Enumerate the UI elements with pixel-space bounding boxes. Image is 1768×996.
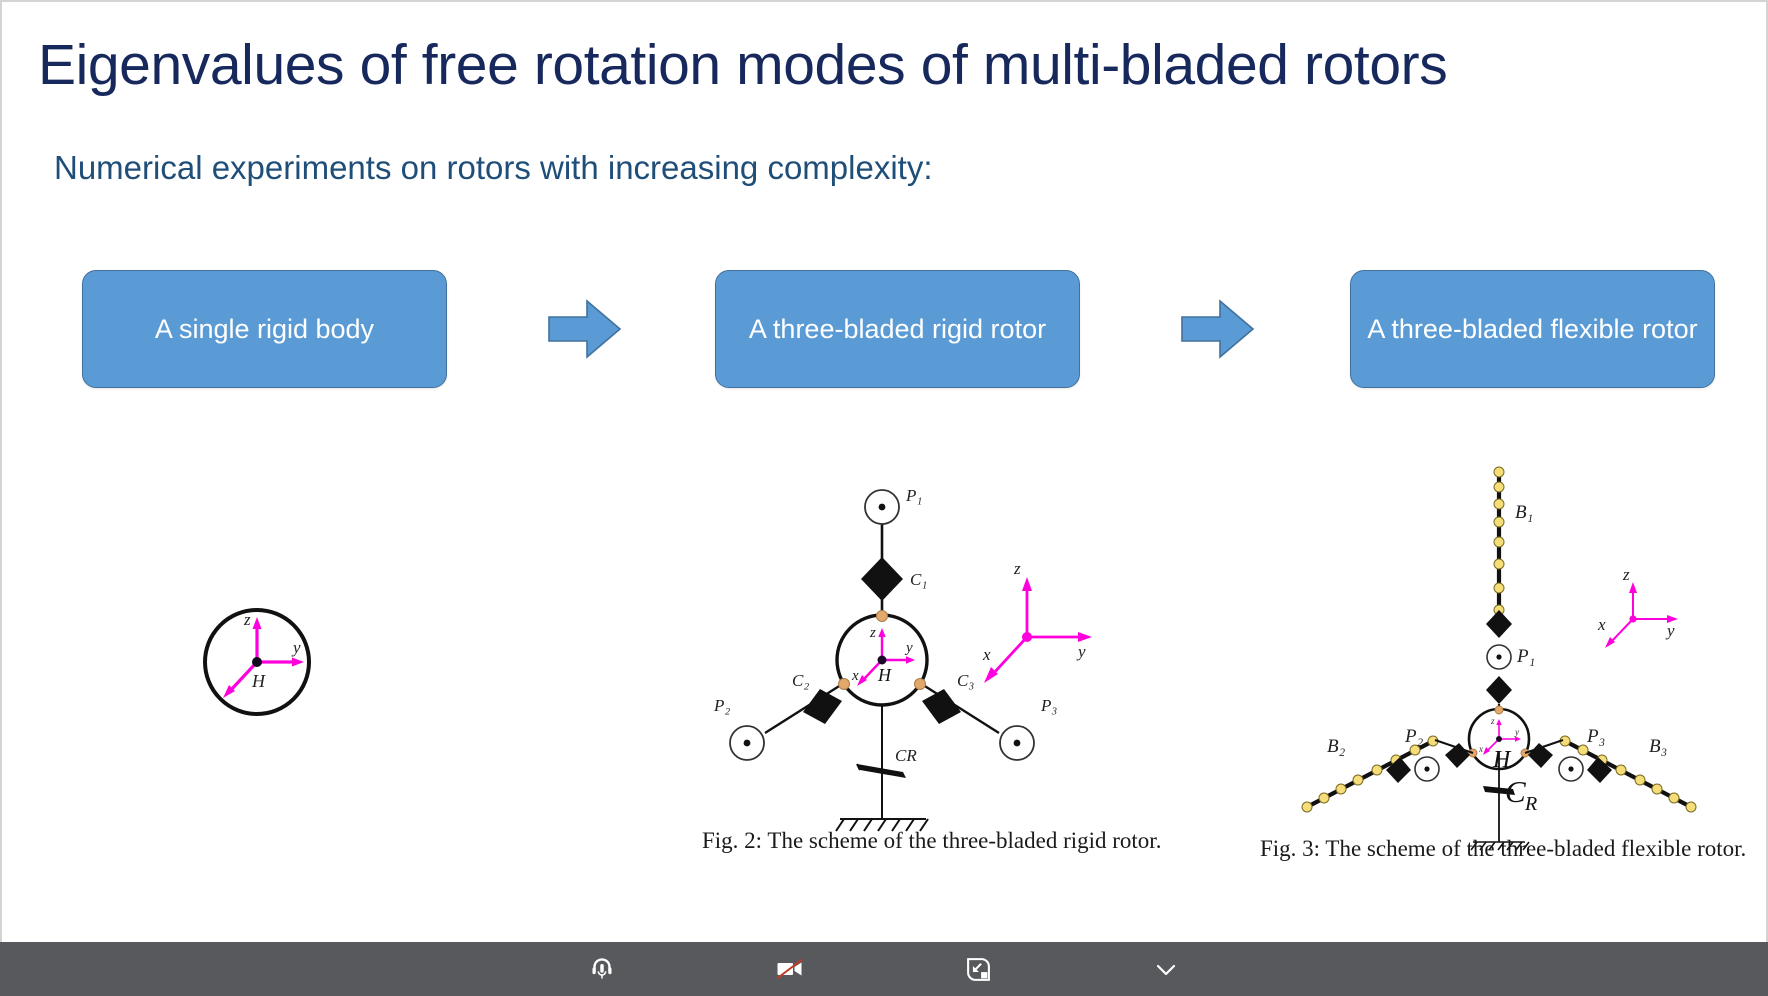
- mass-p3: [1000, 726, 1034, 760]
- fig2-global-axes: [992, 587, 1082, 675]
- fig3-b3-label: B₃: [1649, 736, 1667, 757]
- fig2-global-z-label: z: [1013, 559, 1021, 578]
- presentation-slide: Eigenvalues of free rotation modes of mu…: [0, 0, 1768, 942]
- fig3-global-z-label: z: [1622, 565, 1630, 584]
- fig2-p1-label: P₁: [905, 486, 922, 505]
- fig1-axis-z-label: z: [243, 610, 251, 629]
- present-screen-button[interactable]: [942, 942, 1014, 996]
- flow-box-single-rigid-body[interactable]: A single rigid body: [82, 270, 447, 388]
- chevron-down-icon: [1153, 956, 1179, 982]
- fig3-spring-top-inner: [1486, 676, 1512, 704]
- fig3-spring-left-outer: [1386, 757, 1411, 783]
- fig3-mass-p3: [1559, 757, 1583, 781]
- headset-icon: [589, 956, 615, 982]
- toolbar-gap-2: [826, 969, 942, 970]
- flow-box-three-bladed-rigid-rotor[interactable]: A three-bladed rigid rotor: [715, 270, 1080, 388]
- fig2-global-y-label: y: [1076, 642, 1086, 661]
- present-screen-icon: [965, 956, 992, 983]
- camera-off-icon: [775, 956, 805, 982]
- meeting-toolbar: [0, 942, 1768, 996]
- fig2-hub-label: H: [877, 665, 892, 685]
- joint-right: [915, 679, 926, 690]
- fig1-hub-label: H: [251, 671, 266, 691]
- flow-box-three-bladed-flexible-rotor[interactable]: A three-bladed flexible rotor: [1350, 270, 1715, 388]
- page-subtitle: Numerical experiments on rotors with inc…: [54, 150, 1454, 186]
- fig2-c3-label: C₃: [957, 671, 974, 690]
- fig1-axis-y-label: y: [291, 638, 301, 657]
- fig2-c2-label: C₂: [792, 671, 809, 690]
- page-title: Eigenvalues of free rotation modes of mu…: [38, 36, 1718, 96]
- fig2-global-x-label: x: [982, 645, 991, 664]
- fig3-spring-top-outer: [1486, 610, 1512, 638]
- fig3-hub-axis-y-label: y: [1514, 727, 1519, 737]
- fig2-hub-axis-x-label: x: [851, 668, 859, 684]
- fig2-c1-label: C₁: [910, 570, 927, 589]
- fig3-spring-right-outer: [1587, 757, 1612, 783]
- flow-arrow-1: [547, 297, 622, 362]
- joint-left: [839, 679, 850, 690]
- fig3-global-y-label: y: [1665, 621, 1675, 640]
- fig3-b1-label: B₁: [1515, 502, 1533, 523]
- three-bladed-flexible-rotor-diagram: B₁ B₂ B₃: [1267, 452, 1727, 872]
- fig3-global-axes: [1611, 589, 1671, 642]
- fig3-hub-axis-z-label: z: [1490, 716, 1495, 726]
- fig2-hub-axis-z-label: z: [869, 625, 876, 641]
- fig2-p3-label: P₃: [1040, 696, 1057, 715]
- joint-top: [877, 611, 888, 622]
- single-rigid-body-diagram: z y H: [192, 597, 322, 727]
- mass-p1: [865, 490, 899, 524]
- flow-arrow-2: [1180, 297, 1255, 362]
- fig2-hub-axis-y-label: y: [904, 640, 913, 656]
- flow-box-label: A single rigid body: [155, 312, 374, 347]
- fig3-hub-label: H: [1492, 747, 1512, 773]
- figure-2-caption: Fig. 2: The scheme of the three-bladed r…: [702, 828, 1161, 854]
- flow-box-label: A three-bladed flexible rotor: [1367, 312, 1697, 347]
- toolbar-gap-3: [1014, 969, 1130, 970]
- figure-3-caption: Fig. 3: The scheme of the three-bladed f…: [1260, 836, 1746, 862]
- fig3-cr-sub-label: R: [1524, 793, 1537, 815]
- spring-c2: [803, 689, 842, 724]
- fig3-p3-label: P₃: [1586, 726, 1605, 747]
- fig3-mass-p2: [1415, 757, 1439, 781]
- fig3-p2-label: P₂: [1404, 726, 1424, 747]
- spring-c1: [861, 557, 903, 601]
- three-bladed-rigid-rotor-diagram: z y x H P₁ P₂ P₃ C₁ C₂ C₃ CR: [692, 467, 1122, 867]
- fig3-spring-left-inner: [1445, 743, 1470, 768]
- fig2-cr-label: CR: [895, 746, 917, 765]
- toolbar-gap-1: [638, 969, 754, 970]
- fig2-p2-label: P₂: [713, 696, 730, 715]
- fig3-spring-right-inner: [1528, 743, 1553, 768]
- fig3-global-x-label: x: [1597, 615, 1606, 634]
- camera-off-button[interactable]: [754, 942, 826, 996]
- audio-headset-button[interactable]: [566, 942, 638, 996]
- fig3-cr-label: C: [1505, 774, 1526, 809]
- fig3-b2-label: B₂: [1327, 736, 1346, 757]
- blade-b1: [1494, 467, 1504, 615]
- fig3-hub-axis-x-label: x: [1478, 744, 1483, 754]
- more-options-button[interactable]: [1130, 942, 1202, 996]
- fig3-p1-label: P₁: [1516, 646, 1535, 667]
- flow-box-label: A three-bladed rigid rotor: [749, 312, 1046, 347]
- fig3-mass-p1: [1487, 645, 1511, 669]
- mass-p2: [730, 726, 764, 760]
- spring-c3: [922, 689, 961, 724]
